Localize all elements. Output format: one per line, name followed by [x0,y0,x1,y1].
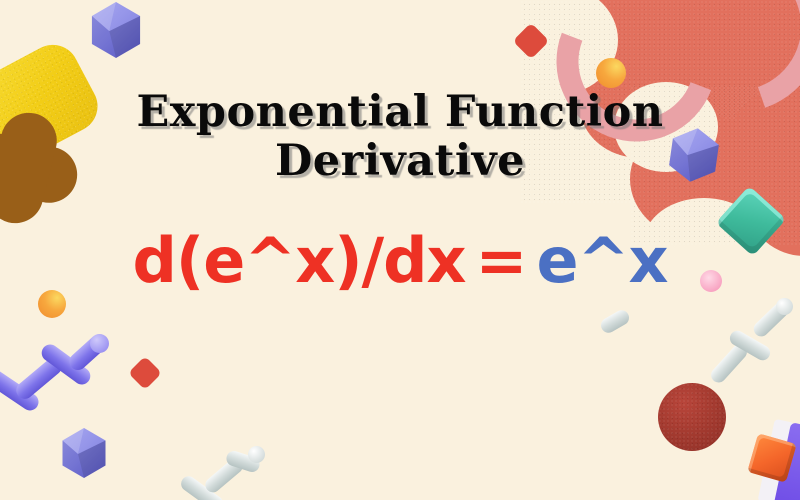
poster-canvas: Exponential Function Derivative d(e^x)/d… [0,0,800,500]
poster-content: Exponential Function Derivative d(e^x)/d… [0,0,800,500]
formula-expression: d(e^x)/dx=e^x [20,224,780,297]
title-line-2: Derivative [80,137,720,186]
page-title: Exponential Function Derivative [80,88,720,186]
title-line-1: Exponential Function [80,88,720,137]
formula-equals-sign: = [466,224,537,297]
formula-left-side: d(e^x)/dx [132,224,465,297]
formula-right-side: e^x [537,224,668,297]
